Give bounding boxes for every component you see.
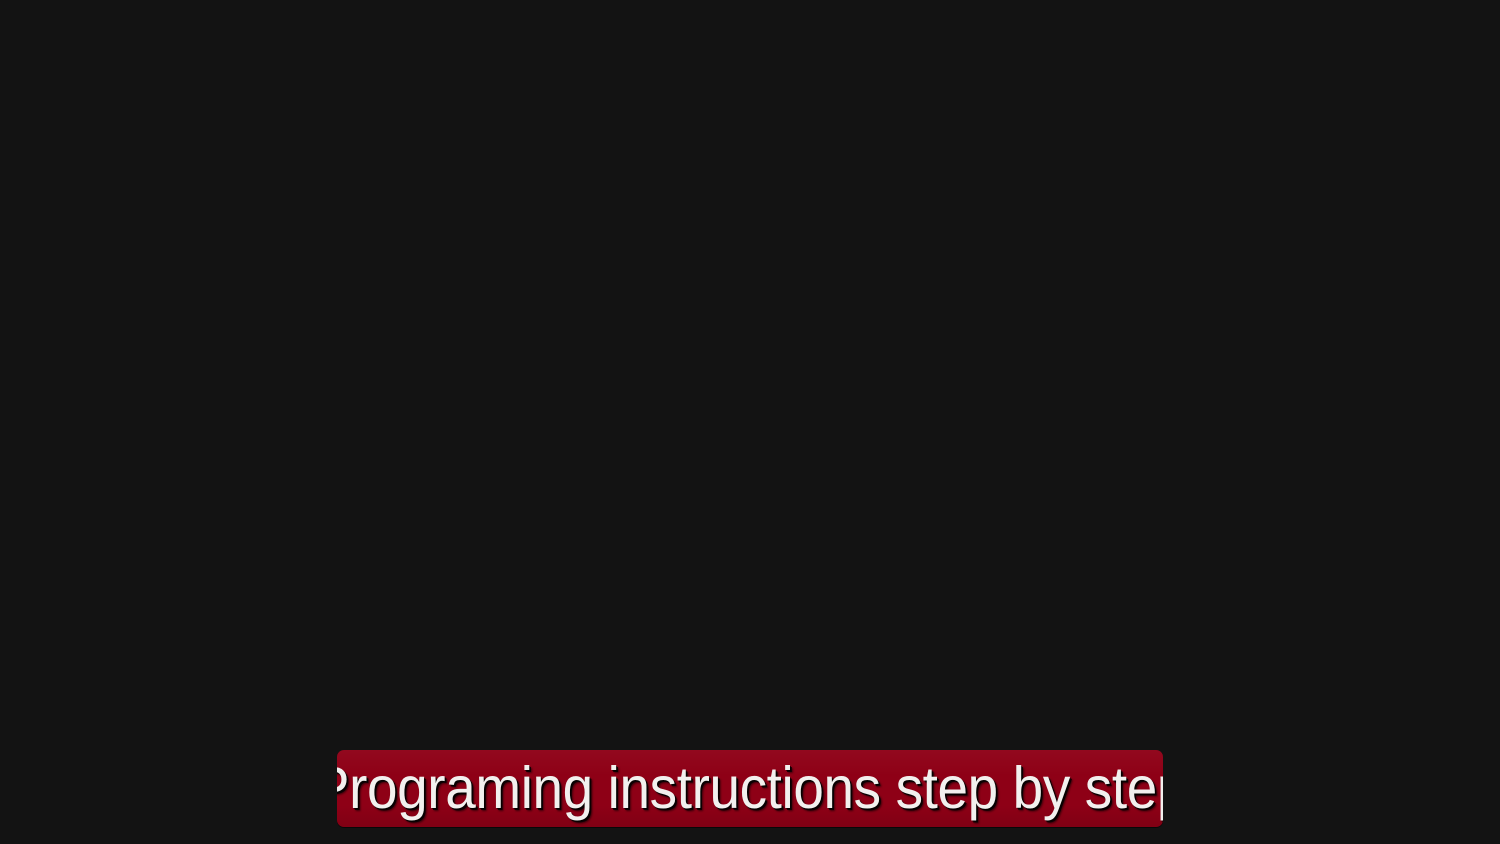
- caption-banner[interactable]: Programing instructions step by step: [337, 750, 1163, 827]
- video-stage[interactable]: [0, 0, 1500, 844]
- caption-text: Programing instructions step by step: [337, 759, 1163, 818]
- screen-root: Programing instructions step by step: [0, 0, 1500, 844]
